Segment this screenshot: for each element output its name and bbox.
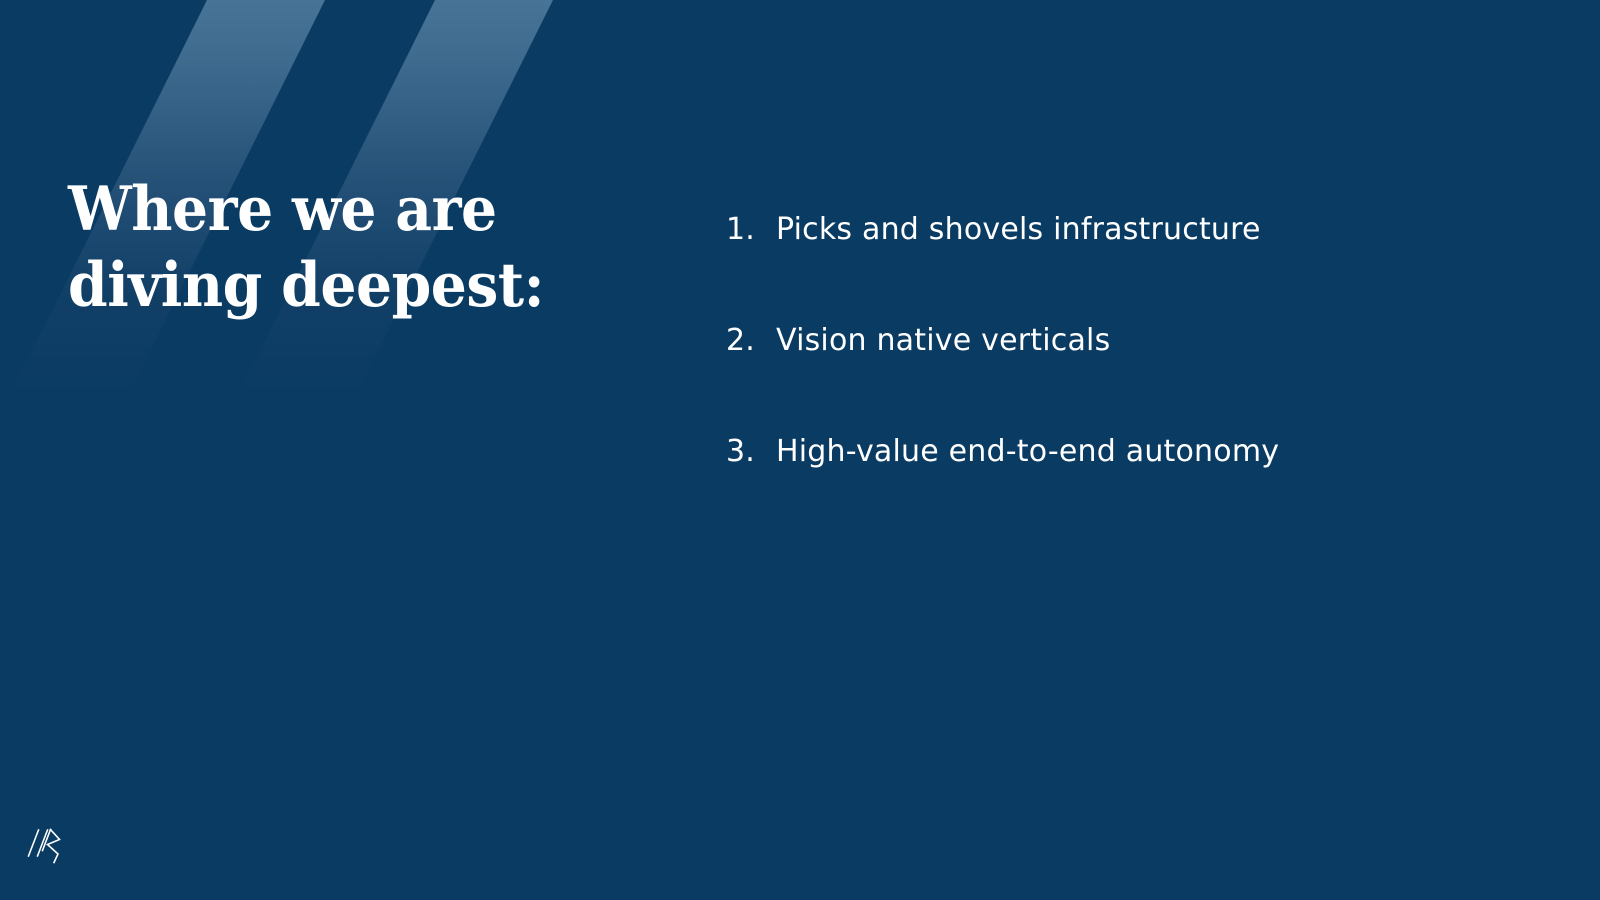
list-item-number: 1. [726,212,776,247]
company-logo [26,822,64,868]
list-item: 1. Picks and shovels infrastructure [726,212,1546,323]
list-item-number: 3. [726,434,776,469]
list-item-label: High-value end-to-end autonomy [776,434,1279,469]
slide-title: Where we are diving deepest: [68,172,626,324]
list-item: 2. Vision native verticals [726,323,1546,434]
list-item: 3. High-value end-to-end autonomy [726,434,1546,545]
list-item-label: Picks and shovels infrastructure [776,212,1261,247]
company-monogram-icon [26,822,64,868]
list-item-label: Vision native verticals [776,323,1110,358]
presentation-slide: Where we are diving deepest: 1. Picks an… [0,0,1600,900]
list-item-number: 2. [726,323,776,358]
numbered-list: 1. Picks and shovels infrastructure 2. V… [686,212,1546,545]
